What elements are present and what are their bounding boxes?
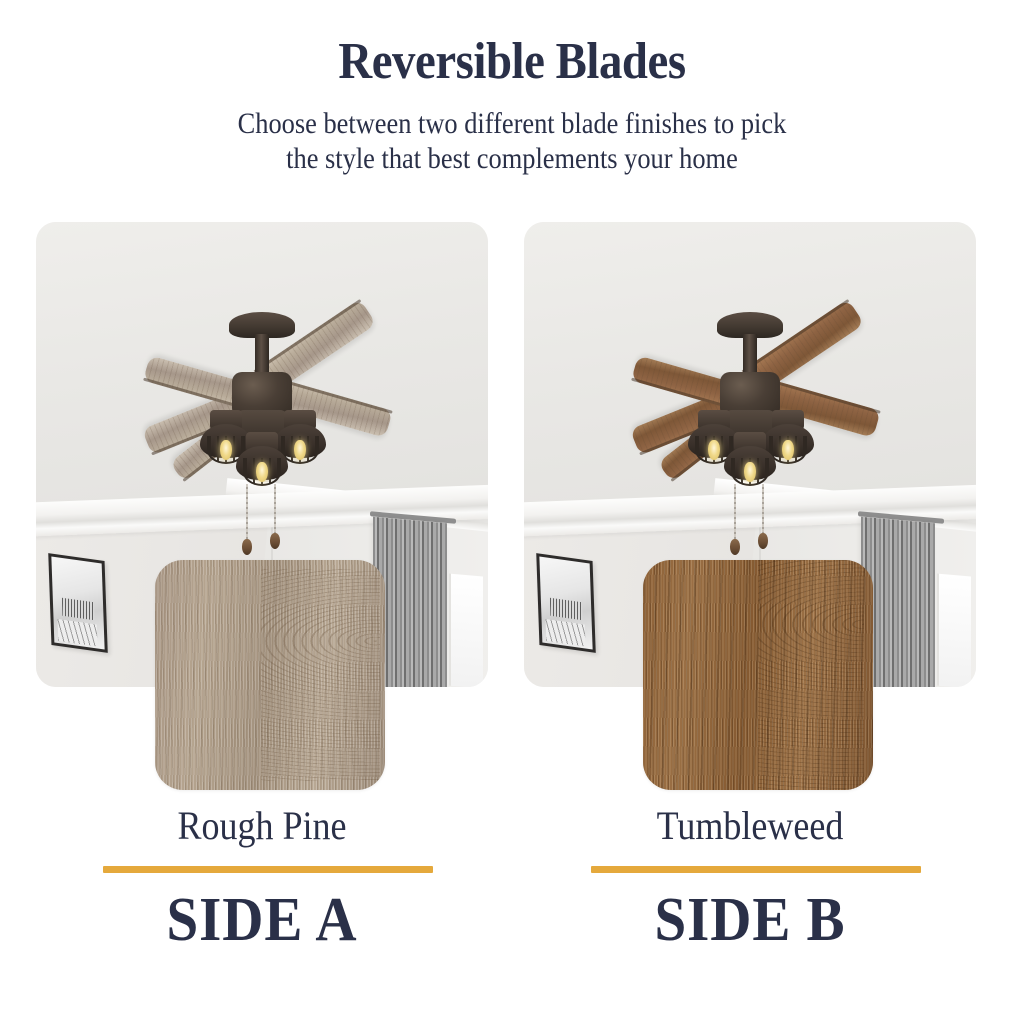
window bbox=[937, 574, 971, 687]
rough-pine-swatch bbox=[155, 560, 385, 790]
framed-art bbox=[536, 553, 596, 653]
wood-knot-texture bbox=[758, 560, 864, 790]
tumbleweed-swatch bbox=[643, 560, 873, 790]
subtitle-line-1: Choose between two different blade finis… bbox=[61, 106, 962, 141]
header: Reversible Blades Choose between two dif… bbox=[0, 0, 1024, 177]
side-label-a: SIDE A bbox=[54, 888, 470, 953]
gold-divider-side-a bbox=[103, 866, 433, 873]
page-subtitle: Choose between two different blade finis… bbox=[61, 88, 962, 177]
wood-knot-texture bbox=[261, 569, 381, 781]
gold-divider-side-b bbox=[591, 866, 921, 873]
fan-light bbox=[236, 446, 288, 498]
pull-chain bbox=[734, 484, 736, 542]
framed-art bbox=[48, 553, 108, 653]
pull-chain bbox=[762, 484, 764, 536]
pull-chain bbox=[274, 484, 276, 536]
page-title: Reversible Blades bbox=[51, 0, 973, 88]
fan-light bbox=[724, 446, 776, 498]
subtitle-line-2: the style that best complements your hom… bbox=[61, 141, 962, 176]
side-label-b: SIDE B bbox=[542, 888, 958, 953]
infographic-page: Reversible Blades Choose between two dif… bbox=[0, 0, 1024, 1024]
pull-chain bbox=[246, 484, 248, 542]
finish-name-side-b: Tumbleweed bbox=[547, 806, 954, 846]
window bbox=[449, 574, 483, 687]
finish-name-side-a: Rough Pine bbox=[59, 806, 466, 846]
